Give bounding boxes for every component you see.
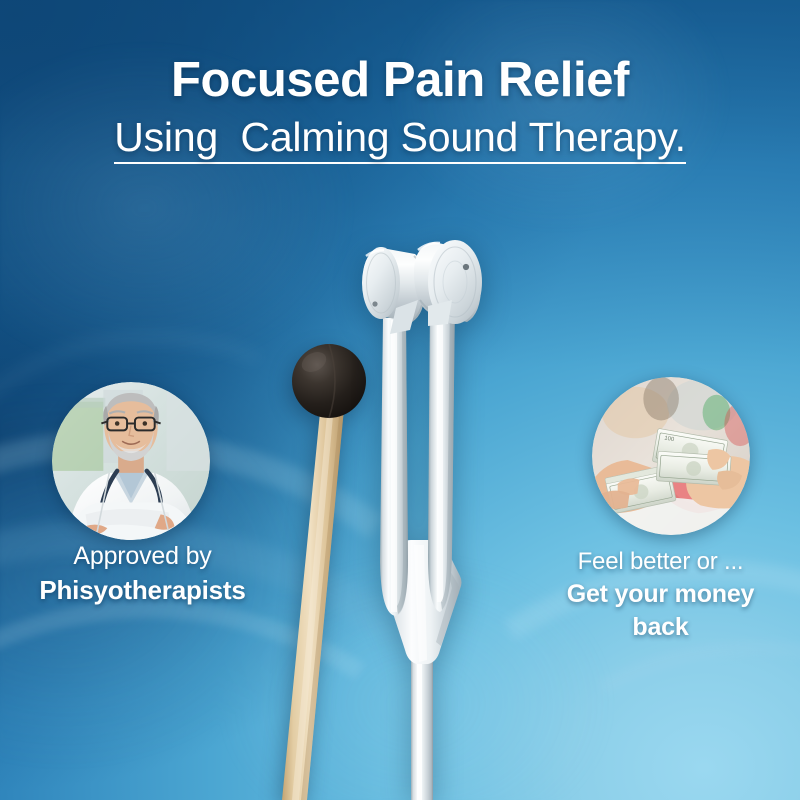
headline-secondary: Using Calming Sound Therapy. bbox=[114, 116, 686, 164]
left-badge-caption: Approved by Phisyotherapists bbox=[0, 540, 285, 607]
money-in-hands-photo: 100 bbox=[592, 377, 750, 535]
right-caption-bold-2: back bbox=[518, 611, 800, 644]
left-caption-bold: Phisyotherapists bbox=[0, 574, 285, 608]
fork-prong-left bbox=[380, 318, 408, 616]
right-caption-bold-1: Get your money bbox=[518, 578, 800, 611]
right-badge-caption: Feel better or ... Get your money back bbox=[518, 546, 800, 643]
right-caption-regular: Feel better or ... bbox=[518, 546, 800, 578]
headline-primary: Focused Pain Relief bbox=[0, 56, 800, 105]
poster-canvas: 100 Focused Pain Relief Using Calming So… bbox=[0, 0, 800, 800]
fork-prong-right bbox=[428, 300, 455, 612]
fork-stem bbox=[411, 660, 433, 800]
money-in-hands-illustration: 100 bbox=[592, 377, 750, 535]
headline-block: Focused Pain Relief Using Calming Sound … bbox=[0, 56, 800, 164]
doctor-portrait-illustration bbox=[52, 382, 210, 540]
left-caption-regular: Approved by bbox=[0, 540, 285, 574]
doctor-portrait-photo bbox=[52, 382, 210, 540]
